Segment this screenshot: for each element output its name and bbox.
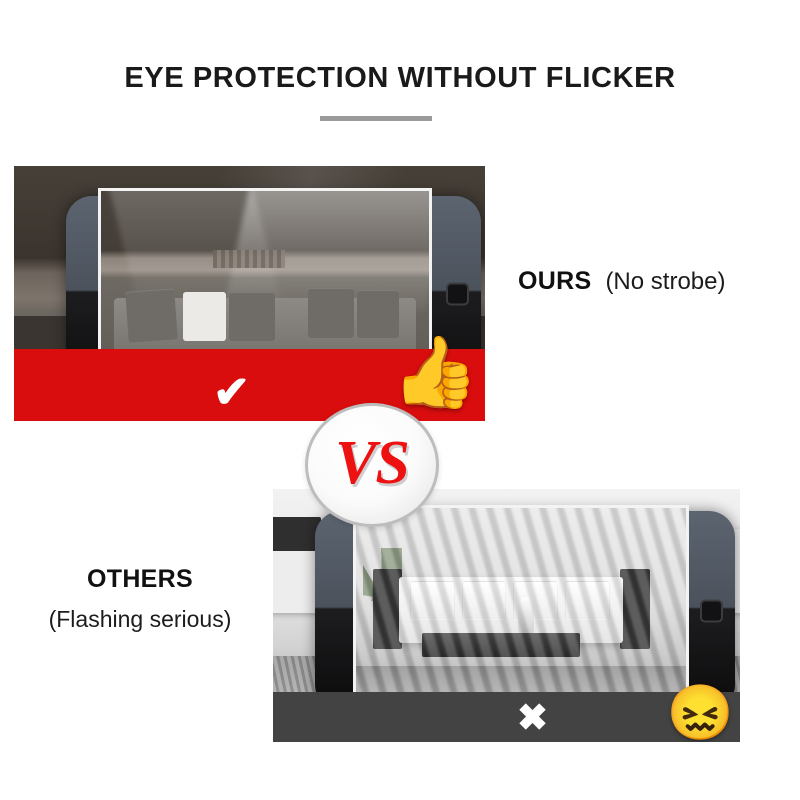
caption-others-label: OTHERS (20, 565, 260, 594)
cushion (357, 290, 400, 338)
cushion (308, 288, 354, 338)
caption-ours: OURS (No strobe) (518, 267, 725, 296)
cushion (125, 288, 178, 343)
wall-shelf-decor (213, 250, 285, 268)
title-divider (320, 116, 432, 121)
vs-badge: VS (305, 403, 439, 527)
check-mark-icon: ✔ (213, 371, 250, 415)
cushion (183, 292, 226, 342)
caption-others: OTHERS (Flashing serious) (20, 565, 260, 633)
thumbs-up-emoji: 👍 (392, 337, 479, 407)
flicker-banding-overlay (353, 505, 689, 713)
home-button-icon (446, 283, 469, 306)
backdrop-stand-left (273, 517, 321, 551)
caption-ours-label: OURS (518, 267, 591, 296)
panel-others: ✖ 😖 (273, 489, 740, 742)
caption-ours-sublabel: (No strobe) (605, 268, 725, 296)
panel-ours: ✔ 👍 (14, 166, 485, 421)
infographic-page: EYE PROTECTION WITHOUT FLICKER (0, 0, 800, 800)
screen-scene-flicker (356, 508, 686, 710)
phone-screen-others (353, 505, 689, 713)
vs-badge-label: VS (335, 432, 409, 494)
caption-others-sublabel: (Flashing serious) (20, 606, 260, 633)
distressed-face-emoji: 😖 (667, 686, 734, 740)
cushion (229, 292, 275, 342)
cross-mark-icon: ✖ (517, 699, 548, 736)
home-button-icon (700, 600, 723, 623)
page-title: EYE PROTECTION WITHOUT FLICKER (0, 62, 800, 95)
